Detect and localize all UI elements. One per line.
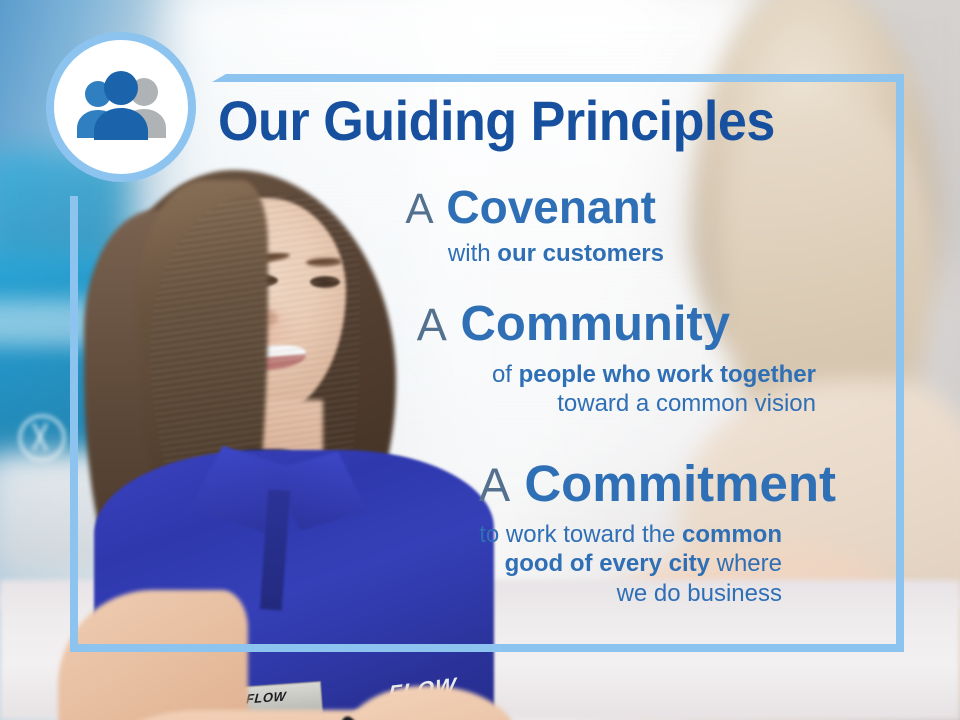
principle-community-word: Community bbox=[461, 297, 731, 351]
principle-covenant-word: Covenant bbox=[446, 181, 656, 233]
principle-covenant-title: A Covenant bbox=[0, 184, 860, 231]
photo-associate-upper-arm bbox=[58, 590, 248, 720]
people-group-icon bbox=[69, 70, 173, 144]
frame-border-bottom bbox=[70, 644, 904, 652]
photo-badge-logo-text: FLOW bbox=[246, 689, 287, 707]
principle-covenant: A Covenant with our customers bbox=[0, 184, 860, 268]
principle-commitment-article: A bbox=[479, 459, 510, 511]
principle-community: A Community of people who work togethert… bbox=[0, 300, 860, 419]
principle-commitment-word: Commitment bbox=[524, 455, 836, 512]
principle-commitment: A Commitment to work toward the commongo… bbox=[0, 458, 860, 608]
page-title: Our Guiding Principles bbox=[218, 92, 869, 149]
principle-community-article: A bbox=[417, 299, 447, 350]
principle-commitment-subtitle: to work toward the commongood of every c… bbox=[0, 520, 860, 608]
principle-covenant-article: A bbox=[405, 185, 433, 232]
principle-covenant-subtitle: with our customers bbox=[0, 239, 860, 268]
principle-community-subtitle: of people who work togethertoward a comm… bbox=[0, 360, 860, 419]
guiding-principles-graphic: FLOW FLOW Our Guiding Principles bbox=[0, 0, 960, 720]
principle-community-title: A Community bbox=[0, 300, 860, 350]
frame-border-top bbox=[212, 74, 904, 82]
frame-border-right bbox=[896, 74, 904, 652]
people-group-badge bbox=[46, 32, 196, 182]
principle-commitment-title: A Commitment bbox=[0, 458, 860, 510]
